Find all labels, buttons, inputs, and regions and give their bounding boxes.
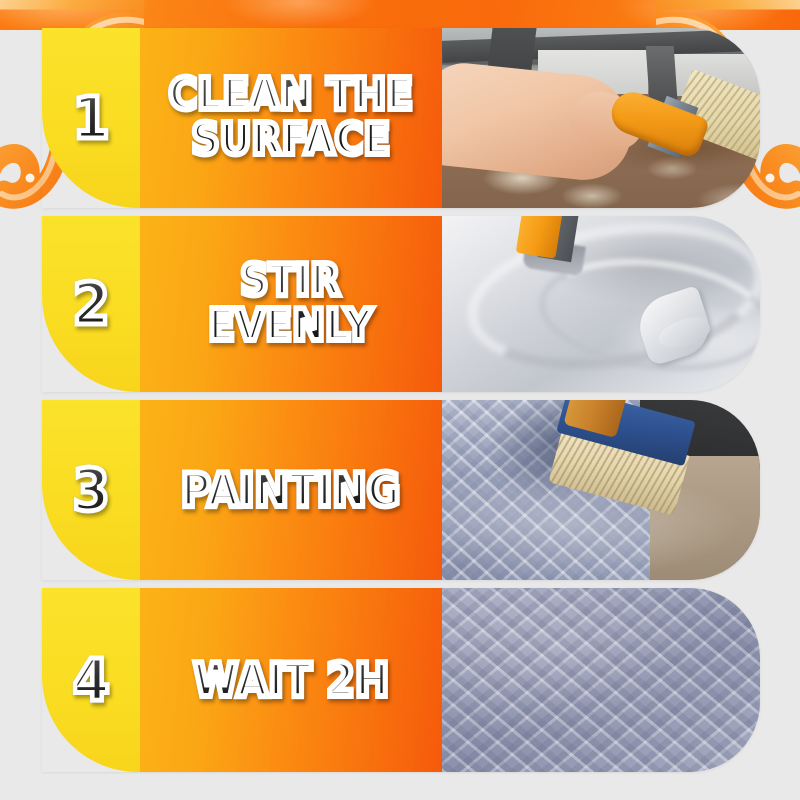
step-label-2-line-1: STIR	[209, 259, 374, 304]
step-number-4: 4	[72, 651, 109, 709]
step-photo-block-3	[442, 400, 760, 580]
photo-stir-evenly	[442, 216, 760, 392]
photo-clean-the-surface	[442, 28, 760, 208]
step-label-1-line-2: SURFACE	[169, 118, 414, 163]
step-row-1: 1 CLEAN THE SURFACE	[42, 28, 760, 208]
step-photo-block-4	[442, 588, 760, 772]
bottom-background-strip	[0, 774, 800, 800]
step-number-1: 1	[72, 89, 109, 147]
step-number-block-1: 1	[42, 28, 140, 208]
step-label-4-line-1: WAIT 2H	[193, 657, 389, 704]
step-number-block-4: 4	[42, 588, 140, 772]
step-number-block-2: 2	[42, 216, 140, 392]
step-label-block-3: PAINTING	[140, 400, 442, 580]
step-label-block-4: WAIT 2H	[140, 588, 442, 772]
step-label-4: WAIT 2H	[189, 657, 392, 704]
step-label-1: CLEAN THE SURFACE	[165, 73, 417, 163]
step-row-2: 2 STIR EVENLY	[42, 216, 760, 392]
step-label-1-line-1: CLEAN THE	[169, 73, 414, 118]
step-label-2: STIR EVENLY	[205, 259, 377, 349]
step-label-block-1: CLEAN THE SURFACE	[140, 28, 442, 208]
photo-painting	[442, 400, 760, 580]
step-label-3: PAINTING	[178, 467, 405, 514]
step-label-2-line-2: EVENLY	[209, 304, 374, 349]
step-label-3-line-1: PAINTING	[181, 467, 401, 514]
step-row-3: 3 PAINTING	[42, 400, 760, 580]
infographic-stage: 1 CLEAN THE SURFACE	[0, 0, 800, 800]
top-banner-glow	[0, 0, 800, 30]
step-number-2: 2	[72, 275, 109, 333]
step-photo-block-1	[442, 28, 760, 208]
step-row-4: 4 WAIT 2H	[42, 588, 760, 772]
step-number-block-3: 3	[42, 400, 140, 580]
step-label-block-2: STIR EVENLY	[140, 216, 442, 392]
step-number-3: 3	[72, 461, 109, 519]
photo-wait-2h	[442, 588, 760, 772]
step-photo-block-2	[442, 216, 760, 392]
